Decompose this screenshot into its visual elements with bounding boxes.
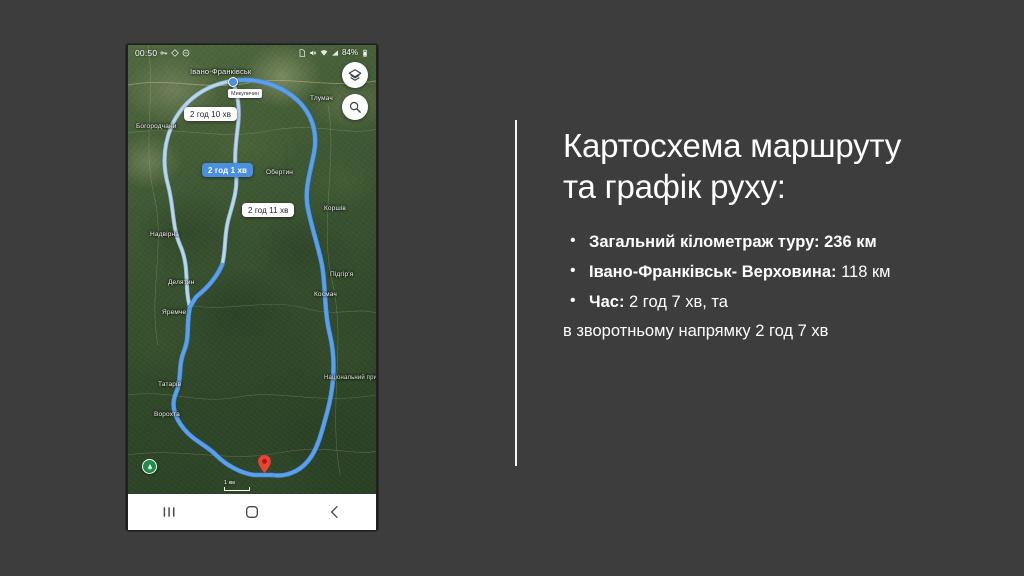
route-chip-alt-east[interactable]: 2 год 11 хв [242, 203, 294, 217]
place-label-korshiv: Коршів [324, 205, 346, 212]
back-button[interactable] [315, 498, 355, 526]
vpn-key-icon [160, 49, 168, 57]
battery-icon [361, 49, 369, 57]
mute-icon [309, 49, 317, 57]
park-icon [146, 463, 154, 471]
place-label-obertyn: Обертин [266, 169, 293, 176]
page-title-line-2: та графік руху: [563, 167, 993, 208]
origin-marker[interactable] [228, 77, 238, 87]
route-chip-selected[interactable]: 2 год 1 хв [202, 163, 253, 177]
do-not-disturb-icon [182, 49, 190, 57]
page-title: Картосхема маршруту та графік руху: [563, 126, 993, 207]
android-nav-bar [128, 494, 376, 530]
origin-chip-label[interactable]: Микуличин [228, 89, 262, 98]
bullet-bold-text: Загальний кілометраж туру: 236 км [589, 233, 877, 251]
recents-icon [161, 504, 177, 520]
phone-screen: Микуличин Івано-Франківськ Богородчани Т… [128, 45, 376, 494]
place-label-ivano-frankivsk: Івано-Франківськ [190, 67, 251, 76]
list-item: Івано-Франківськ- Верховина: 118 км [563, 259, 993, 286]
location-icon [171, 49, 179, 57]
bullet-bold-text: Час: [589, 293, 624, 311]
recents-button[interactable] [149, 498, 189, 526]
search-button[interactable] [342, 94, 368, 120]
place-label-pidhirya: Підгір'я [330, 271, 353, 278]
map-scale-bar: 1 км [224, 480, 250, 491]
map-satellite-canvas[interactable]: Микуличин Івано-Франківськ Богородчани Т… [128, 45, 376, 494]
map-scale-line [224, 487, 250, 491]
home-icon [244, 504, 260, 520]
route-chip-alt-north[interactable]: 2 год 10 хв [184, 107, 237, 121]
page-title-line-1: Картосхема маршруту [563, 126, 993, 167]
place-label-bogorodchany: Богородчани [136, 123, 176, 130]
back-chevron-icon [327, 504, 343, 520]
poi-park-marker[interactable] [142, 459, 157, 474]
place-label-kosmach: Космач [314, 291, 337, 298]
place-label-vorokhta: Ворохта [154, 411, 180, 418]
status-clock: 00:50 [135, 48, 157, 58]
wifi-icon [320, 49, 328, 57]
status-bar-left: 00:50 [135, 48, 190, 58]
bullet-wrapped-line: в зворотньому напрямку 2 год 7 хв [563, 318, 993, 344]
signal-icon [331, 49, 339, 57]
place-label-nadvirna: Надвірна [150, 231, 179, 238]
place-label-national-park: Національний природний парк Гуцульщина [324, 375, 372, 383]
map-scale-label: 1 км [224, 480, 235, 486]
battery-percent: 84% [342, 48, 358, 57]
place-label-yaremche: Яремче [162, 309, 186, 316]
bullet-rest-text: 118 км [836, 263, 890, 281]
bullet-bold-text: Івано-Франківськ- Верховина: [589, 263, 836, 281]
bullet-list: Загальний кілометраж туру: 236 км Івано-… [563, 229, 993, 315]
list-item: Загальний кілометраж туру: 236 км [563, 229, 993, 256]
destination-pin[interactable] [258, 455, 271, 473]
phone-mockup: Микуличин Івано-Франківськ Богородчани Т… [126, 44, 378, 531]
list-item: Час: 2 год 7 хв, та [563, 289, 993, 316]
sd-card-icon [298, 49, 306, 57]
route-polyline-layer [128, 45, 376, 494]
bullet-rest-text: 2 год 7 хв, та [624, 293, 728, 311]
status-bar: 00:50 [128, 45, 376, 60]
layers-button[interactable] [342, 62, 368, 88]
place-label-delyatyn: Делятин [168, 279, 194, 286]
layers-icon [348, 68, 362, 82]
accent-divider-line [515, 120, 517, 466]
content-panel: Картосхема маршруту та графік руху: Зага… [563, 126, 993, 345]
status-bar-right: 84% [298, 48, 369, 57]
place-label-tlumach: Тлумач [310, 95, 333, 102]
home-button[interactable] [232, 498, 272, 526]
search-icon [348, 100, 362, 114]
place-label-tatariv: Татарів [158, 381, 181, 388]
map-pin-icon [258, 455, 271, 473]
